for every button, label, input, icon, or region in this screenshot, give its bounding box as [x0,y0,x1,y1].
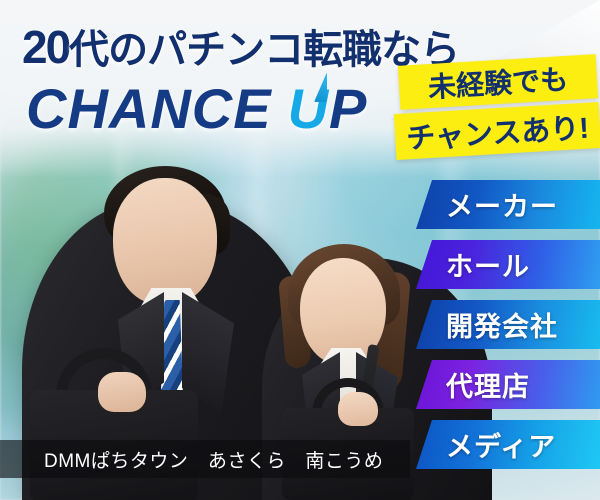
logo-p-letter: P [329,77,367,140]
category-label-media: メディア [446,425,556,464]
category-label-maker: メーカー [446,185,558,224]
headline-number: 20 [22,21,69,73]
logo-u-letter: U [288,76,329,141]
woman-hand [338,392,378,426]
chance-up-logo: CHANCEUP [26,76,367,141]
category-button-agency[interactable]: 代理店 [416,360,600,409]
logo-chance-text: CHANCE [26,77,272,140]
category-button-developer[interactable]: 開発会社 [416,300,600,349]
category-label-developer: 開発会社 [446,305,558,344]
category-button-maker[interactable]: メーカー [416,180,600,229]
credit-caption-text: DMMぱちタウン あさくら 南こうめ [44,446,383,473]
category-label-hall: ホール [446,245,530,284]
man-face [113,178,217,304]
category-button-hall[interactable]: ホール [416,240,600,289]
headline: 20代のパチンコ転職なら [22,17,459,75]
category-button-list: メーカー ホール 開発会社 代理店 メディア [416,180,600,480]
credit-caption-bar: DMMぱちタウン あさくら 南こうめ [0,440,410,478]
ad-banner[interactable]: 20代のパチンコ転職なら CHANCEUP 未経験でも チャンスあり! メーカー… [0,0,600,500]
category-label-agency: 代理店 [446,365,530,404]
category-button-media[interactable]: メディア [416,420,600,469]
badge-2-label: チャンスあり! [405,105,590,158]
badge-1-label: 未経験でも [427,58,569,106]
man-hand [98,372,146,412]
